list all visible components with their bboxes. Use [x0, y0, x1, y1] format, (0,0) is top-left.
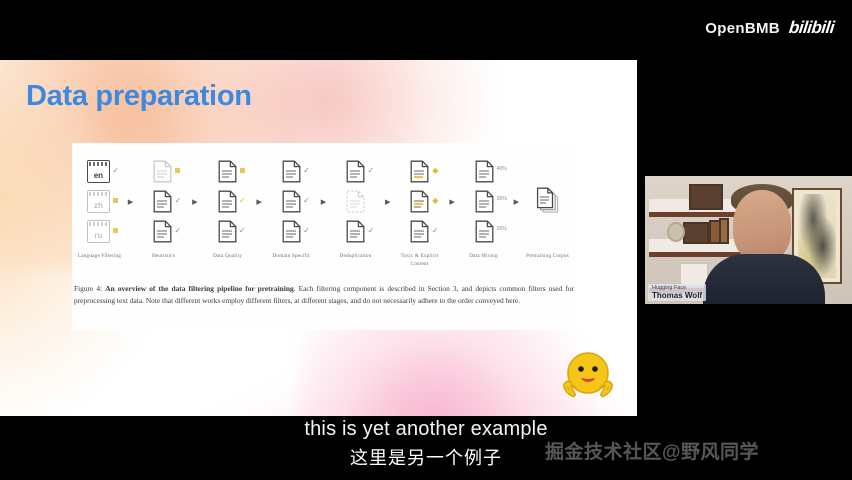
document-icon: [346, 160, 365, 183]
pipeline-stage-heuristics: ✓ ✓: [136, 160, 189, 243]
hugging-face-emoji: [557, 348, 619, 404]
presentation-slide: Data preparation en✓ zh ru ▸ ✓: [0, 60, 637, 416]
stage-label: Deduplication: [328, 253, 383, 261]
book: [719, 218, 729, 244]
pipeline-stage-pretraining-corpus: [522, 187, 575, 215]
slide-title: Data preparation: [26, 80, 252, 113]
video-player-frame: OpenBMB bilibili Data preparation en✓ zh…: [0, 0, 852, 480]
pipeline-arrow-icon: ▸: [382, 195, 394, 208]
document-icon: [218, 160, 237, 183]
document-icon: [346, 190, 365, 213]
speaker-webcam[interactable]: Hugging Face Thomas Wolf: [645, 176, 852, 304]
document-icon: [153, 160, 172, 183]
pipeline-stage-deduplication: ✓ ✓: [329, 160, 382, 243]
document-icon: [410, 220, 429, 243]
stage-label: Data Quality: [200, 253, 255, 261]
picture-frame: [689, 184, 723, 210]
figure-panel: en✓ zh ru ▸ ✓ ✓ ▸: [72, 143, 575, 330]
document-stack-icon: [536, 187, 562, 215]
pipeline-arrow-icon: ▸: [511, 195, 523, 208]
speaker-nameplate: Hugging Face Thomas Wolf: [648, 284, 706, 302]
document-flag-icon: [410, 190, 429, 213]
stage-label: Heuristics: [136, 253, 191, 261]
speaker-torso: [703, 254, 825, 304]
pipeline-stage-domain-specific: ✓ ✓ ✓: [265, 160, 318, 243]
bilibili-logo: bilibili: [788, 18, 835, 38]
vase: [667, 222, 685, 242]
pipeline-stage-language-filtering: en✓ zh ru: [72, 160, 125, 243]
document-flag-icon: [410, 160, 429, 183]
document-icon: [153, 190, 172, 213]
pipeline-stage-data-quality: ✓ ✓: [201, 160, 254, 243]
stage-label: Toxic & Explicit Content: [392, 253, 447, 269]
pipeline-stage-labels: Language Filtering Heuristics Data Quali…: [72, 253, 575, 269]
language-tag-icon: ru: [87, 220, 110, 243]
document-icon: [346, 220, 365, 243]
pipeline-arrow-icon: ▸: [446, 195, 458, 208]
document-icon: [282, 220, 301, 243]
channel-name: OpenBMB: [705, 20, 780, 37]
stage-label: Pretraining Corpus: [520, 253, 575, 261]
caption-bold: An overview of the data filtering pipeli…: [105, 284, 293, 293]
stage-label: Language Filtering: [72, 253, 127, 261]
document-icon: [475, 160, 494, 183]
pipeline-arrow-icon: ▸: [189, 195, 201, 208]
document-icon: [153, 220, 172, 243]
document-icon: [282, 160, 301, 183]
pipeline-arrow-icon: ▸: [125, 195, 137, 208]
speaker-name: Thomas Wolf: [652, 291, 702, 300]
watermark: 掘金技术社区@野风同学: [545, 437, 759, 464]
language-tag-icon: en: [87, 160, 110, 183]
language-tag-icon: zh: [87, 190, 110, 213]
figure-caption: Figure 4: An overview of the data filter…: [74, 283, 574, 307]
document-icon: [218, 220, 237, 243]
document-icon: [475, 220, 494, 243]
caption-label: Figure 4:: [74, 284, 102, 293]
speaker-face: [733, 190, 791, 262]
pipeline-diagram: en✓ zh ru ▸ ✓ ✓ ▸: [72, 147, 575, 255]
speaker-affiliation: Hugging Face: [652, 285, 702, 291]
document-icon: [475, 190, 494, 213]
pipeline-stage-data-mixing: 40% 35% 25%: [458, 160, 511, 243]
picture-frame: [683, 222, 709, 244]
channel-branding: OpenBMB bilibili: [705, 18, 834, 38]
pipeline-stage-toxic-content: ◆ ◆ ✓: [394, 160, 447, 243]
document-icon: [282, 190, 301, 213]
stage-label: Data Mixing: [456, 253, 511, 261]
stage-label: Domain Specific: [264, 253, 319, 261]
document-icon: [218, 190, 237, 213]
pipeline-arrow-icon: ▸: [318, 195, 330, 208]
pipeline-arrow-icon: ▸: [253, 195, 265, 208]
